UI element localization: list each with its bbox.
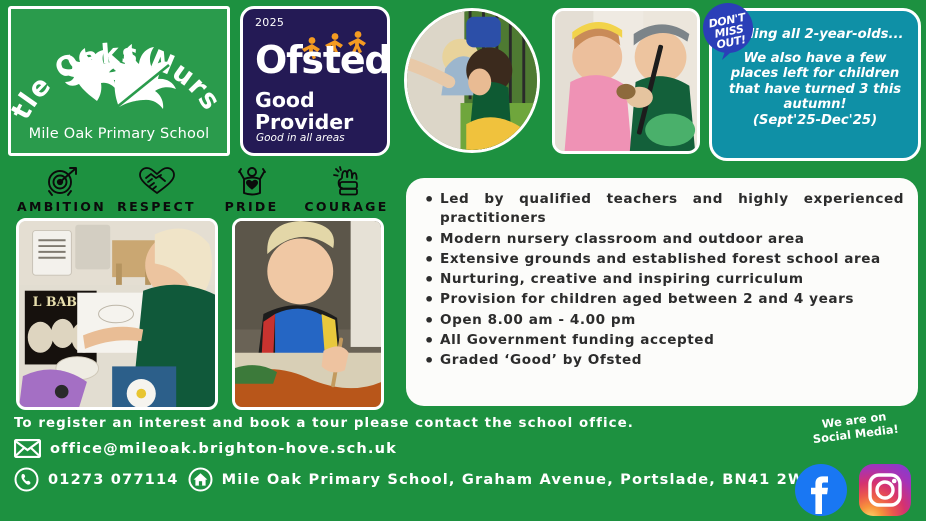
ofsted-grade: Good Provider bbox=[255, 89, 353, 133]
value-ambition: AMBITION bbox=[14, 166, 109, 214]
dont-miss-out-badge: DON'T MISS OUT! bbox=[700, 2, 758, 60]
list-item: All Government funding accepted bbox=[422, 331, 904, 350]
ofsted-year: 2025 bbox=[255, 16, 377, 29]
list-item: Provision for children aged between 2 an… bbox=[422, 290, 904, 309]
value-pride: PRIDE bbox=[204, 166, 299, 214]
ofsted-wordmark: Ofsted bbox=[255, 41, 390, 79]
features-card: Led by qualified teachers and highly exp… bbox=[406, 178, 918, 406]
value-label-ambition: AMBITION bbox=[14, 199, 109, 214]
social-caption: We are on Social Media! bbox=[791, 406, 919, 449]
photo-children-outdoor-wall bbox=[404, 8, 540, 153]
school-values-row: AMBITION RESPECT bbox=[14, 160, 394, 214]
oak-leaf-icon bbox=[53, 43, 185, 113]
school-address: Mile Oak Primary School, Graham Avenue, … bbox=[222, 471, 819, 488]
photo-child-painting bbox=[232, 218, 384, 410]
envelope-icon bbox=[14, 439, 41, 458]
raised-fist-icon bbox=[299, 166, 394, 196]
ofsted-note: Good in all areas bbox=[256, 132, 345, 144]
ofsted-grade-line1: Good bbox=[255, 89, 353, 111]
school-logo: Little Oaks Nursery Mile Oak Primary Sch… bbox=[8, 6, 230, 156]
logo-subtitle: Mile Oak Primary School bbox=[11, 126, 227, 142]
photo-children-dressing-up bbox=[552, 8, 700, 154]
target-arrow-icon bbox=[14, 166, 109, 196]
home-circle-icon bbox=[188, 467, 213, 492]
list-item: Open 8.00 am - 4.00 pm bbox=[422, 311, 904, 330]
instagram-icon[interactable] bbox=[859, 464, 911, 516]
value-label-respect: RESPECT bbox=[109, 199, 204, 214]
value-courage: COURAGE bbox=[299, 166, 394, 214]
handshake-heart-icon bbox=[109, 166, 204, 196]
ofsted-grade-line2: Provider bbox=[255, 111, 353, 133]
email-address[interactable]: office@mileoak.brighton-hove.sch.uk bbox=[50, 440, 397, 457]
list-item: Extensive grounds and established forest… bbox=[422, 250, 904, 269]
list-item: Led by qualified teachers and highly exp… bbox=[422, 190, 904, 229]
person-arms-raised-heart-icon bbox=[204, 166, 299, 196]
value-respect: RESPECT bbox=[109, 166, 204, 214]
promo-line-3: (Sept'25-Dec'25) bbox=[722, 113, 908, 129]
facebook-icon[interactable] bbox=[795, 464, 847, 516]
social-media-block: We are on Social Media! bbox=[788, 414, 918, 518]
nursery-advert-poster: Little Oaks Nursery Mile Oak Primary Sch… bbox=[0, 0, 926, 521]
phone-circle-icon bbox=[14, 467, 39, 492]
phone-number[interactable]: 01273 077114 bbox=[48, 471, 179, 488]
list-item: Graded ‘Good’ by Ofsted bbox=[422, 351, 904, 370]
list-item: Modern nursery classroom and outdoor are… bbox=[422, 230, 904, 249]
value-label-courage: COURAGE bbox=[299, 199, 394, 214]
features-list: Led by qualified teachers and highly exp… bbox=[422, 190, 904, 371]
photo-child-owl-babies-craft: L BABIES bbox=[16, 218, 218, 410]
list-item: Nurturing, creative and inspiring curric… bbox=[422, 270, 904, 289]
value-label-pride: PRIDE bbox=[204, 199, 299, 214]
ofsted-badge: 2025 Ofste bbox=[240, 6, 390, 156]
